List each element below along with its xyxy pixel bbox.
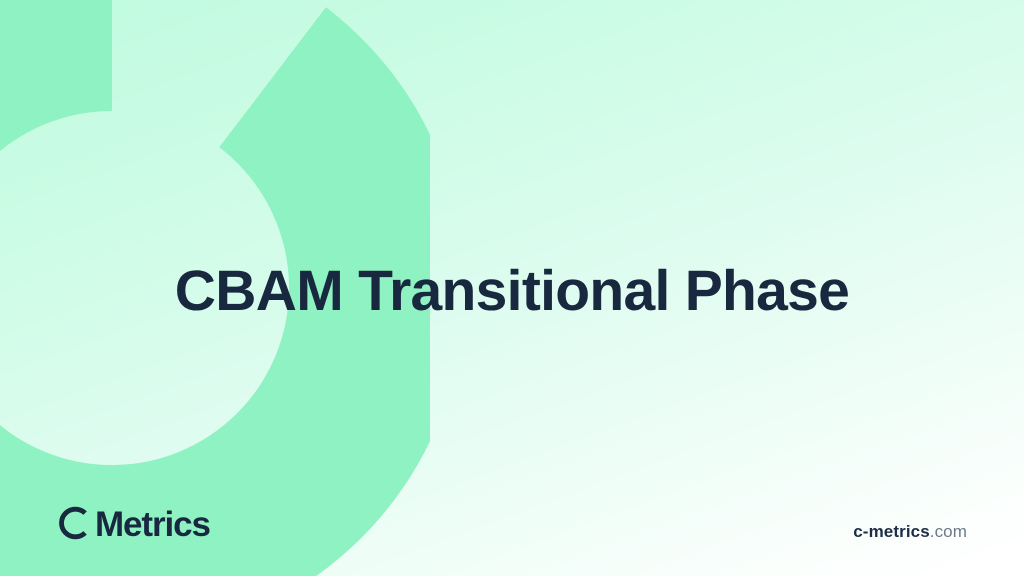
page-title: CBAM Transitional Phase bbox=[175, 261, 849, 323]
brand-logo: Metrics bbox=[57, 502, 210, 544]
brand-wordmark: Metrics bbox=[95, 507, 210, 542]
site-url-name: c-metrics bbox=[853, 522, 930, 541]
title-slide: CBAM Transitional Phase Metrics c-metric… bbox=[0, 0, 1024, 576]
site-url: c-metrics.com bbox=[853, 523, 967, 540]
title-container: CBAM Transitional Phase bbox=[0, 0, 1024, 576]
c-ring-icon bbox=[57, 505, 93, 541]
site-url-tld: .com bbox=[930, 522, 967, 541]
